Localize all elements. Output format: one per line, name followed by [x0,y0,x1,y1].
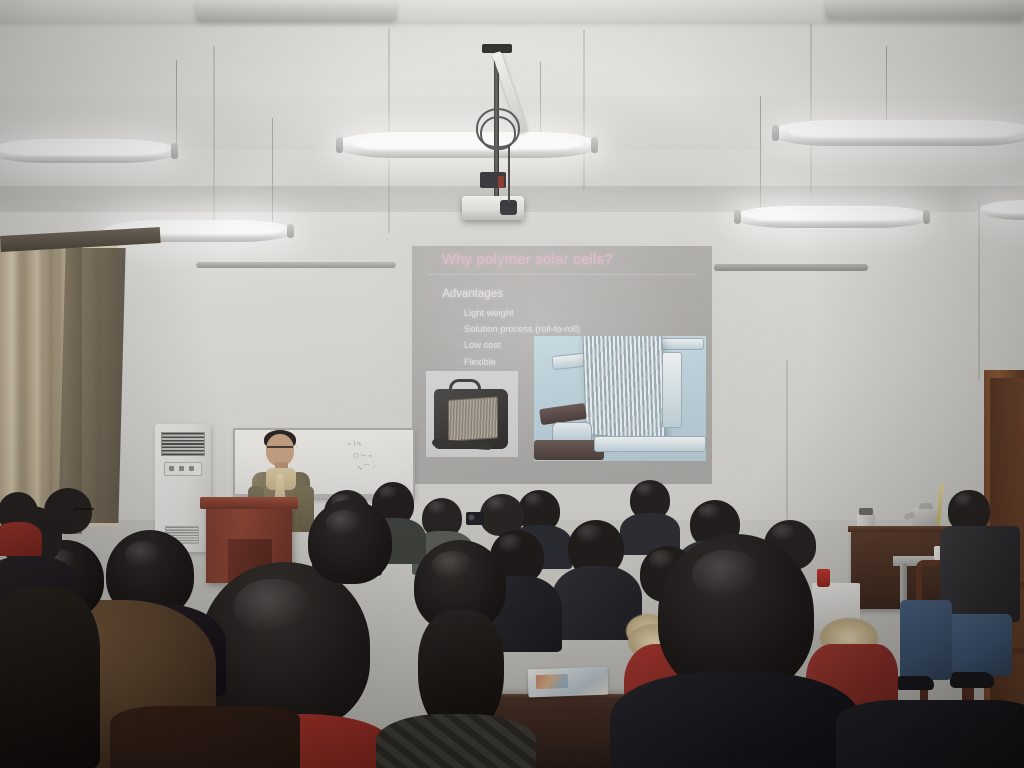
papers-on-desk [528,667,609,698]
ac-control-panel [164,462,202,476]
audience-red-scarf [0,522,42,556]
bullet-marker-icon: ▪ [434,289,437,299]
slide-title-rule [428,274,698,275]
light-wire-4 [272,118,273,226]
projector-connector [498,176,504,188]
light-wire-5 [760,96,761,214]
papers-print [536,674,568,689]
curtain-fold-4 [96,250,100,520]
ceiling-light-5 [734,206,930,228]
slide-image-solar-backpack [426,371,518,457]
sub-bullet-marker-icon: – [456,327,460,334]
ac-button[interactable] [179,466,184,471]
projection-screen: Why polymer solar cells? ▪Advantages –Li… [412,246,712,484]
handheld-camera[interactable] [466,512,484,525]
audience-plaid-jacket [376,714,536,768]
camera-lens-icon [468,514,475,521]
audience-person-f-right-big [640,534,840,768]
audience-glasses [74,508,94,515]
ceiling-rail-right [826,0,1024,18]
kettle-lid [919,503,933,509]
audience-person-red-scarf-left [0,492,54,562]
slide-title: Why polymer solar cells? [442,252,613,268]
wall-rail-left [196,262,396,268]
lectern-top [200,497,298,509]
thermos-cap [859,508,873,515]
audience-dark-coat [0,588,100,768]
hair-highlight [955,493,974,507]
audience-shoulders-large [610,672,860,768]
ceiling-light-1 [0,139,178,163]
wall-seam-1 [213,46,215,226]
audience-shoulders [110,706,300,768]
backpack-solar-panel [448,396,498,441]
ceiling-light-3 [772,120,1024,146]
curtain-fold-1 [18,250,22,525]
machine-frame-right [662,352,682,428]
light-wire-1 [176,60,177,150]
ac-button[interactable] [169,466,174,471]
audience-person-f-mid [296,500,406,630]
whiteboard-sketch-2: ⌁ ⌇∿ [347,440,362,448]
whiteboard-sketch-4: ∿⌒ ⟋ [357,464,377,472]
light-wire-2 [540,62,541,142]
audience-head-large [658,534,814,694]
slide-bullet-advantages: ▪Advantages [434,288,503,300]
wall-seam-6 [786,360,788,535]
curtain-fold-2 [40,248,44,526]
curtain-right-panel [58,248,125,523]
seated-person-right-2 [900,560,962,710]
slide-bullet-light-weight: –Light weight [456,306,580,322]
audience-person-f-far-left [0,588,100,768]
audience-head [308,500,392,584]
machine-base-bar [594,436,706,452]
whiteboard-sketch-3: ⌬ ⌲ ⌁ [353,452,372,460]
ceiling-light-2 [336,132,598,158]
sub-bullet-marker-icon: – [456,360,460,367]
ac-button[interactable] [189,466,194,471]
wall-seam-2 [388,28,390,233]
ceiling-rail-left [196,0,396,20]
presenter-glasses [267,446,293,454]
curtain-fold-3 [58,246,62,524]
seated-person-2-jeans [900,600,952,680]
screen-housing-rail [714,264,868,271]
sub-bullet-marker-icon: – [456,311,460,318]
projector-cable-coil-2 [480,116,516,150]
projector-lens [500,200,517,215]
wall-seam-4 [810,24,812,194]
wall-seam-5 [978,200,980,380]
ac-grille [161,432,205,456]
sub-bullet-marker-icon: – [456,343,460,350]
audience-person-m1 [556,520,636,630]
light-wire-3 [886,46,887,124]
projector-cable-hanging [508,146,510,202]
lecture-hall-photo: Why polymer solar cells? ▪Advantages –Li… [0,0,1024,768]
audience-person-f-right-edge [836,700,1024,768]
audience-shoulders [836,700,1024,768]
slide-image-roll-to-roll-machine [534,336,706,461]
wall-seam-3 [583,30,585,190]
machine-roller-web [582,336,666,442]
audience-person-f-bottom-left [110,706,300,768]
seated-person-2-shoe [896,676,934,690]
